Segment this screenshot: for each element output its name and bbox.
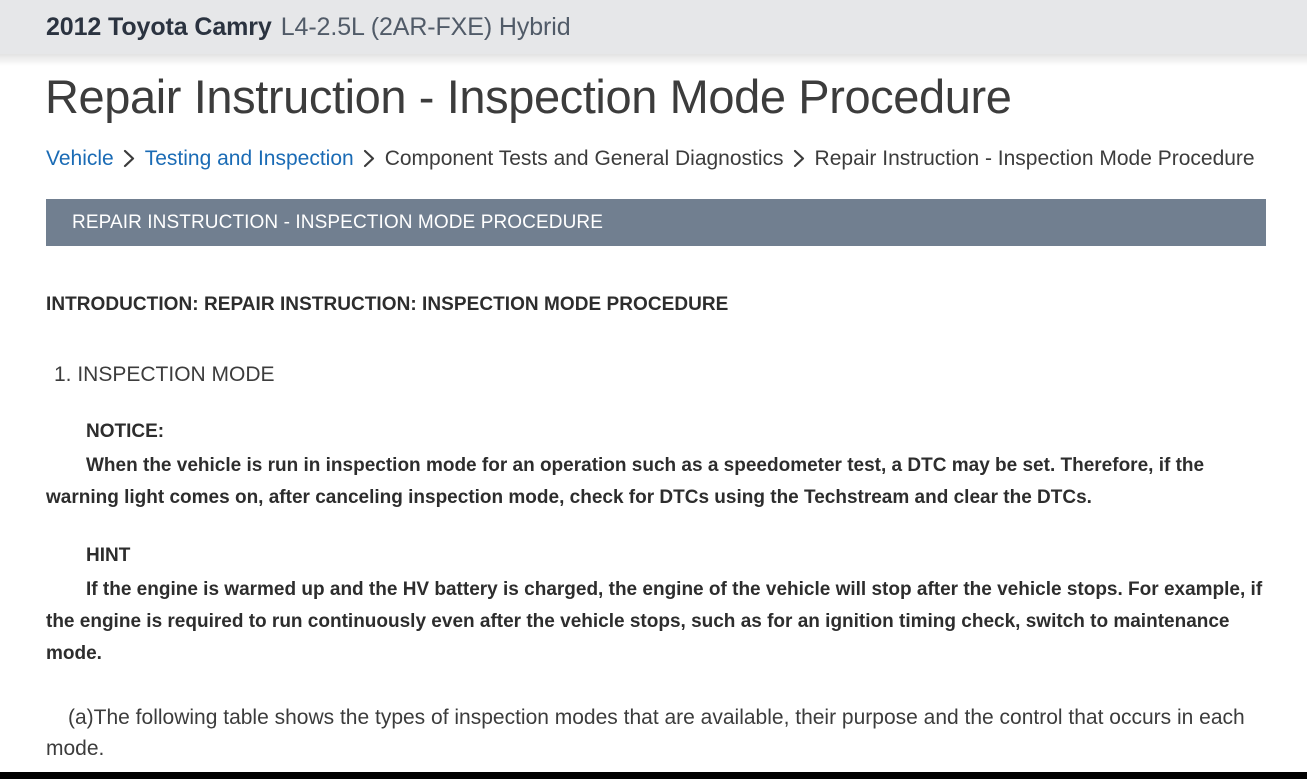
vehicle-header-bar: 2012 Toyota Camry L4-2.5L (2AR-FXE) Hybr… xyxy=(0,0,1307,54)
bottom-black-bar xyxy=(0,772,1307,779)
page-title: Repair Instruction - Inspection Mode Pro… xyxy=(45,72,1012,121)
hint-body: If the engine is warmed up and the HV ba… xyxy=(46,574,1268,670)
header-shadow xyxy=(0,54,1307,66)
list-item-inspection-mode: 1. INSPECTION MODE xyxy=(54,363,1268,387)
section-banner: REPAIR INSTRUCTION - INSPECTION MODE PRO… xyxy=(46,199,1266,246)
document-page: Repair Instruction - Inspection Mode Pro… xyxy=(0,54,1307,779)
introduction-heading: INTRODUCTION: REPAIR INSTRUCTION: INSPEC… xyxy=(46,294,1268,316)
chevron-right-icon xyxy=(793,149,806,168)
notice-label: NOTICE: xyxy=(86,421,1268,443)
paragraph-a: (a)The following table shows the types o… xyxy=(46,702,1268,765)
section-banner-title: REPAIR INSTRUCTION - INSPECTION MODE PRO… xyxy=(72,212,603,234)
breadcrumb-item-current-page: Repair Instruction - Inspection Mode Pro… xyxy=(815,145,1255,172)
hint-label: HINT xyxy=(86,545,1268,567)
notice-body: When the vehicle is run in inspection mo… xyxy=(46,450,1268,514)
breadcrumb: Vehicle Testing and Inspection Component… xyxy=(46,145,1307,172)
breadcrumb-item-vehicle[interactable]: Vehicle xyxy=(46,145,114,172)
vehicle-engine-label: L4-2.5L (2AR-FXE) Hybrid xyxy=(281,13,571,42)
chevron-right-icon xyxy=(123,149,136,168)
breadcrumb-item-testing-and-inspection[interactable]: Testing and Inspection xyxy=(145,145,354,172)
document-content: INTRODUCTION: REPAIR INSTRUCTION: INSPEC… xyxy=(46,294,1268,765)
breadcrumb-item-component-tests: Component Tests and General Diagnostics xyxy=(385,145,784,172)
vehicle-model-label: 2012 Toyota Camry xyxy=(46,13,272,42)
chevron-right-icon xyxy=(363,149,376,168)
